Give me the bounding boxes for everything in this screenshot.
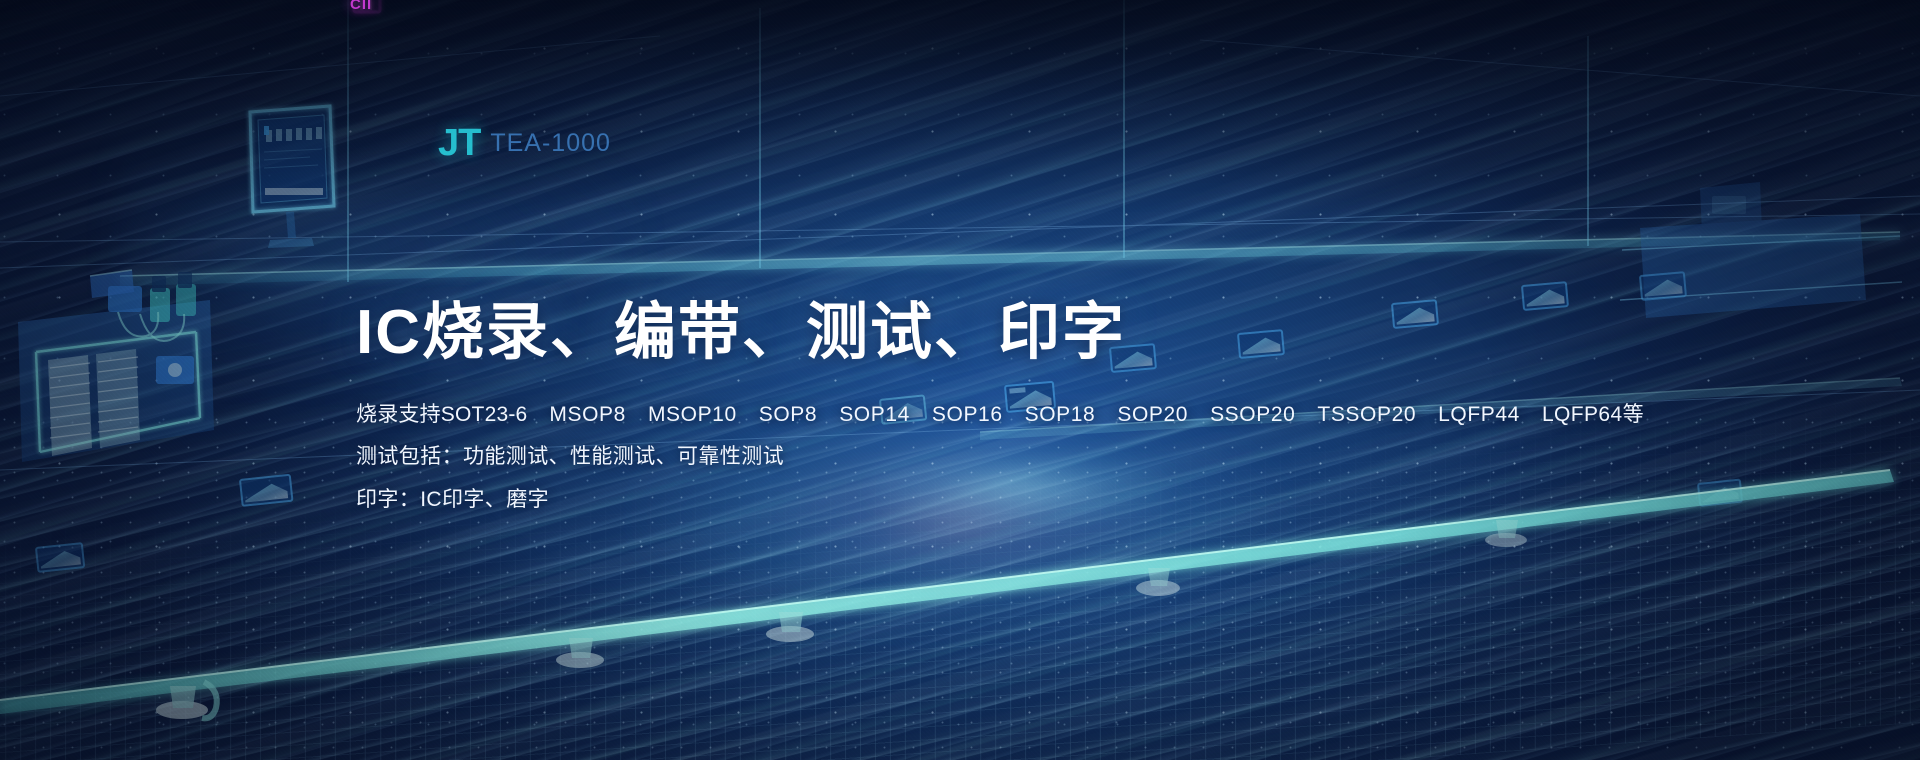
- ic-services-banner: CII JT TEA-1000 IC烧录、编带、测试、印字 烧录支持SOT23-…: [0, 0, 1920, 760]
- banner-headline: IC烧录、编带、测试、印字: [356, 300, 1656, 367]
- package-item: SOP16: [932, 401, 1003, 429]
- package-item: SSOP20: [1210, 401, 1295, 429]
- package-item-last: LQFP64等: [1542, 401, 1644, 429]
- package-support-line: 烧录支持SOT23-6 MSOP8 MSOP10 SOP8 SOP14 SOP1…: [356, 401, 1656, 429]
- package-item: SOP14: [839, 401, 910, 429]
- package-lead-text: 烧录支持SOT23-6: [356, 401, 527, 429]
- package-item: SOP8: [759, 401, 817, 429]
- package-item: LQFP44: [1438, 401, 1520, 429]
- machine-brand-mark: JT TEA-1000: [438, 124, 611, 162]
- package-item: LQFP64: [1542, 403, 1623, 426]
- package-tail-text: 等: [1623, 403, 1644, 426]
- top-chip-label: CII: [350, 0, 372, 13]
- marking-line: 印字：IC印字、磨字: [356, 486, 1656, 514]
- package-item: MSOP10: [648, 401, 737, 429]
- package-item: SOP20: [1117, 401, 1188, 429]
- package-item: TSSOP20: [1317, 401, 1416, 429]
- brand-model-text: TEA-1000: [490, 131, 611, 156]
- package-item: SOP18: [1025, 401, 1096, 429]
- brand-logo-text: JT: [438, 124, 480, 162]
- banner-sublines: 烧录支持SOT23-6 MSOP8 MSOP10 SOP8 SOP14 SOP1…: [356, 401, 1656, 514]
- package-item: MSOP8: [549, 401, 626, 429]
- banner-content: IC烧录、编带、测试、印字 烧录支持SOT23-6 MSOP8 MSOP10 S…: [356, 300, 1656, 514]
- testing-line: 测试包括：功能测试、性能测试、可靠性测试: [356, 443, 1656, 471]
